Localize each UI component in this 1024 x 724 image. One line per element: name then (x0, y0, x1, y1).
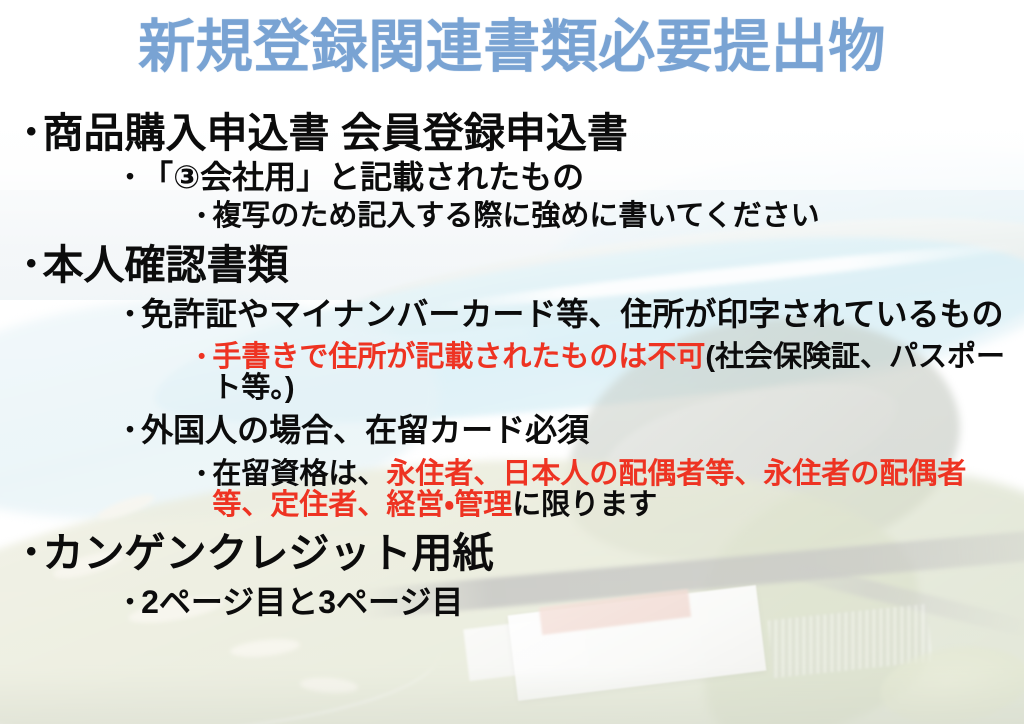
outline-item-level3-warning: • 手書きで住所が記載されたものは不可(社会保険証、パスポート等。) (198, 342, 1006, 403)
bullet-dot-icon: • (26, 537, 43, 567)
outline-text: 手書きで住所が記載されたものは不可(社会保険証、パスポート等。) (212, 342, 1006, 403)
outline-text: 外国人の場合、在留カード必須 (141, 414, 1006, 448)
outline-text: 本人確認書類 (43, 244, 1006, 287)
outline-item-level2: • 2ページ目と3ページ目 (126, 586, 1006, 620)
outline-text-run-black: に限ります (512, 489, 657, 521)
outline-text: 2ページ目と3ページ目 (141, 586, 1006, 620)
outline-item-level1: • 本人確認書類 (26, 244, 1006, 287)
bullet-dot-icon: • (198, 205, 212, 226)
outline-item-level2: • 外国人の場合、在留カード必須 (126, 414, 1006, 448)
outline-text: 商品購入申込書 会員登録申込書 (43, 112, 1006, 155)
bullet-dot-icon: • (198, 463, 212, 484)
bullet-dot-icon: • (26, 117, 43, 147)
bullet-dot-icon: • (126, 165, 141, 188)
bullet-dot-icon: • (126, 302, 141, 325)
outline-text: 免許証やマイナンバーカード等、住所が印字されているもの (141, 298, 1006, 332)
outline-item-level3: • 複写のため記入する際に強めに書いてください (198, 201, 1006, 232)
slide-content: 新規登録関連書類必要提出物 • 商品購入申込書 会員登録申込書 • 「③会社用」… (0, 0, 1024, 724)
outline-text: 在留資格は、永住者、日本人の配偶者等、永住者の配偶者等、定住者、経営・管理に限り… (212, 459, 1006, 520)
outline-item-level2: • 免許証やマイナンバーカード等、住所が印字されているもの (126, 298, 1006, 332)
outline-text-run-red: 手書きで住所が記載されたものは不可 (212, 341, 705, 373)
bullet-dot-icon: • (198, 346, 212, 367)
presentation-slide: 新規登録関連書類必要提出物 • 商品購入申込書 会員登録申込書 • 「③会社用」… (0, 0, 1024, 724)
outline-text: カンゲンクレジット用紙 (43, 532, 1006, 575)
bullet-dot-icon: • (126, 418, 141, 441)
outline-item-level1: • 商品購入申込書 会員登録申込書 (26, 112, 1006, 155)
outline-text-run-black: 在留資格は、 (212, 458, 386, 490)
outline-item-level3-qualification: • 在留資格は、永住者、日本人の配偶者等、永住者の配偶者等、定住者、経営・管理に… (198, 459, 1006, 520)
outline-text: 「③会社用」と記載されたもの (141, 161, 1006, 195)
outline-item-level1: • カンゲンクレジット用紙 (26, 532, 1006, 575)
slide-title: 新規登録関連書類必要提出物 (0, 18, 1024, 78)
outline-text: 複写のため記入する際に強めに書いてください (212, 201, 1006, 232)
bullet-dot-icon: • (126, 590, 141, 613)
outline-item-level2: • 「③会社用」と記載されたもの (126, 161, 1006, 195)
bullet-outline: • 商品購入申込書 会員登録申込書 • 「③会社用」と記載されたもの • 複写の… (26, 110, 1006, 620)
bullet-dot-icon: • (26, 249, 43, 279)
